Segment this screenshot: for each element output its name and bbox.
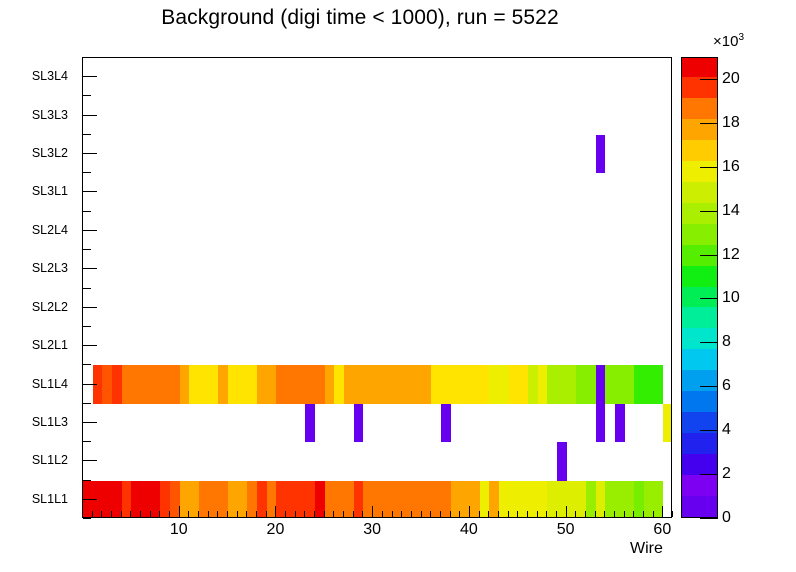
y-axis-tick [83,345,97,346]
x-axis-minor-tick [353,511,354,517]
palette-tick-label-2: 2 [722,465,731,483]
x-axis-major-tick [566,506,567,517]
heatmap-cell [276,365,324,403]
y-axis-tick-label-sl2l2: SL2L2 [32,300,68,314]
y-axis-tick-label-sl3l2: SL3L2 [32,146,68,160]
palette-tick-label-18: 18 [722,114,740,132]
palette-tick-label-10: 10 [722,289,740,307]
heatmap-cell [557,442,567,480]
palette-tick [700,386,718,387]
y-axis-tick-label-sl2l3: SL2L3 [32,261,68,275]
x-axis-major-tick [469,506,470,517]
x-axis-minor-tick [140,511,141,517]
y-axis-tick [83,76,97,77]
y-axis-minor-tick [83,518,91,519]
y-axis-minor-tick [83,326,91,327]
heatmap-cell [102,365,112,403]
color-scale-bar [681,57,718,518]
palette-band [682,454,717,476]
heatmap-cell [180,365,190,403]
x-axis-minor-tick [421,511,422,517]
x-axis-minor-tick [517,511,518,517]
heatmap-cell [431,365,489,403]
heatmap-cell [605,365,634,403]
heatmap-cells [83,58,671,517]
y-axis-minor-tick [83,95,91,96]
heatmap-cell [334,365,344,403]
heatmap-cell [354,365,431,403]
palette-band [682,202,717,224]
y-axis-tick-label-sl2l1: SL2L1 [32,338,68,352]
palette-multiplier: ×103 [713,32,744,50]
palette-tick-label-4: 4 [722,421,731,439]
palette-band [682,286,717,308]
x-axis-tick-label-20: 20 [267,521,285,539]
x-axis-minor-tick [643,511,644,517]
palette-tick [700,518,718,519]
heatmap-cell [451,481,480,518]
heatmap-cell [663,404,672,442]
heatmap-cell [228,481,247,518]
palette-band [682,391,717,413]
palette-band [682,139,717,161]
heatmap-cell [131,481,160,518]
heatmap-cell [547,481,586,518]
x-axis-minor-tick [333,511,334,517]
y-axis-minor-tick [83,403,91,404]
x-axis-minor-tick [459,511,460,517]
x-axis-minor-tick [188,511,189,517]
y-axis-tick-label-sl2l4: SL2L4 [32,223,68,237]
heatmap-cell [596,365,606,403]
y-axis-minor-tick [83,249,91,250]
palette-tick [700,123,718,124]
heatmap-cell [596,135,606,173]
heatmap-cell [509,365,528,403]
heatmap-cell [189,365,218,403]
heatmap-cell [199,481,228,518]
palette-tick [700,474,718,475]
palette-band [682,328,717,350]
palette-tick-label-16: 16 [722,158,740,176]
x-axis-minor-tick [304,511,305,517]
palette-tick [700,298,718,299]
y-axis-minor-tick [83,134,91,135]
heatmap-cell [363,481,450,518]
heatmap-cell [489,365,508,403]
heatmap-cell [538,365,548,403]
heatmap-cell [344,365,354,403]
y-axis-minor-tick [83,480,91,481]
palette-band [682,57,717,77]
x-axis-minor-tick [169,511,170,517]
y-axis-tick-label-sl1l1: SL1L1 [32,492,68,506]
histogram-plot-area[interactable] [82,57,672,518]
heatmap-cell [354,404,364,442]
x-axis-minor-tick [450,511,451,517]
x-axis-minor-tick [624,511,625,517]
x-axis-major-tick [662,506,663,517]
y-axis-minor-tick [83,364,91,365]
heatmap-cell [596,404,606,442]
x-axis-minor-tick [208,511,209,517]
y-axis-tick [83,115,97,116]
heatmap-cell [441,404,451,442]
x-axis-minor-tick [130,511,131,517]
x-axis-minor-tick [595,511,596,517]
x-axis-minor-tick [498,511,499,517]
x-axis-minor-tick [488,511,489,517]
palette-tick-label-6: 6 [722,377,731,395]
page-title: Background (digi time < 1000), run = 552… [0,6,720,30]
palette-band [682,349,717,371]
x-axis-minor-tick [614,511,615,517]
x-axis-minor-tick [266,511,267,517]
heatmap-cell [180,481,199,518]
x-axis-minor-tick [362,511,363,517]
palette-band [682,118,717,140]
x-axis-minor-tick [537,511,538,517]
x-axis-minor-tick [653,511,654,517]
y-axis-minor-tick [83,57,91,58]
x-axis-minor-tick [246,511,247,517]
heatmap-cell [276,481,315,518]
x-axis-minor-tick [295,511,296,517]
y-axis-tick [83,153,97,154]
y-axis-tick-label-sl3l4: SL3L4 [32,69,68,83]
palette-tick [700,79,718,80]
x-axis-tick-label-30: 30 [363,521,381,539]
y-axis-labels: SL3L4SL3L3SL3L2SL3L1SL2L4SL2L3SL2L2SL2L1… [0,57,78,518]
y-axis-minor-tick [83,288,91,289]
palette-tick [700,342,718,343]
x-axis-minor-tick [121,511,122,517]
x-axis-minor-tick [479,511,480,517]
y-axis-minor-tick [83,441,91,442]
y-axis-minor-tick [83,172,91,173]
heatmap-cell [605,481,634,518]
x-axis-minor-tick [343,511,344,517]
palette-band [682,181,717,203]
x-axis-minor-tick [556,511,557,517]
x-axis-minor-tick [111,511,112,517]
palette-tick-label-14: 14 [722,202,740,220]
heatmap-cell [634,365,663,403]
palette-tick-label-20: 20 [722,70,740,88]
palette-band [682,223,717,245]
y-axis-tick [83,307,97,308]
heatmap-cell [122,365,180,403]
y-axis-minor-tick [83,211,91,212]
x-axis-title: Wire [630,540,663,558]
palette-tick-label-8: 8 [722,333,731,351]
y-axis-tick [83,230,97,231]
x-axis-minor-tick [101,511,102,517]
x-axis-minor-tick [633,511,634,517]
x-axis-minor-tick [198,511,199,517]
x-axis-minor-tick [604,511,605,517]
y-axis-tick-label-sl1l2: SL1L2 [32,453,68,467]
x-axis-minor-tick [585,511,586,517]
palette-band [682,97,717,119]
y-axis-tick [83,268,97,269]
x-axis-minor-tick [546,511,547,517]
heatmap-cell [615,404,625,442]
x-axis-minor-tick [159,511,160,517]
heatmap-cell [547,365,576,403]
heatmap-cell [325,481,354,518]
heatmap-cell [644,481,663,518]
heatmap-cell [528,365,538,403]
x-axis-minor-tick [527,511,528,517]
x-axis-minor-tick [256,511,257,517]
x-axis-tick-label-40: 40 [460,521,478,539]
palette-band [682,370,717,392]
heatmap-cell [218,365,228,403]
x-axis-tick-label-50: 50 [557,521,575,539]
x-axis-major-tick [275,506,276,517]
y-axis-tick [83,384,97,385]
palette-tick-label-0: 0 [722,509,731,527]
palette-tick [700,255,718,256]
x-axis-minor-tick [314,511,315,517]
palette-tick [700,211,718,212]
heatmap-cell [112,365,122,403]
y-axis-tick [83,191,97,192]
palette-tick [700,167,718,168]
heatmap-cell [576,365,595,403]
x-axis-minor-tick [217,511,218,517]
x-axis-minor-tick [92,511,93,517]
palette-band [682,433,717,455]
x-axis-minor-tick [285,511,286,517]
palette-band [682,307,717,329]
palette-band [682,475,717,497]
y-axis-tick [83,460,97,461]
x-axis-minor-tick [672,511,673,517]
y-axis-tick [83,422,97,423]
heatmap-cell [305,404,315,442]
x-axis-minor-tick [575,511,576,517]
x-axis-major-tick [372,506,373,517]
x-axis-tick-label-60: 60 [653,521,671,539]
palette-band [682,265,717,287]
palette-band [682,160,717,182]
y-axis-tick [83,499,97,500]
x-axis-minor-tick [227,511,228,517]
x-axis-minor-tick [150,511,151,517]
palette-band [682,495,717,517]
heatmap-cell [325,365,335,403]
x-axis-minor-tick [401,511,402,517]
palette-tick-label-12: 12 [722,246,740,264]
palette-tick [700,430,718,431]
x-axis-major-tick [179,506,180,517]
y-axis-tick-label-sl3l3: SL3L3 [32,108,68,122]
y-axis-tick-label-sl1l3: SL1L3 [32,415,68,429]
x-axis-minor-tick [411,511,412,517]
x-axis-minor-tick [237,511,238,517]
x-axis-minor-tick [382,511,383,517]
x-axis-minor-tick [82,511,83,517]
x-axis-minor-tick [392,511,393,517]
heatmap-cell [228,365,257,403]
y-axis-tick-label-sl1l4: SL1L4 [32,377,68,391]
x-axis-minor-tick [430,511,431,517]
heatmap-cell [499,481,547,518]
heatmap-cell [93,365,103,403]
x-axis-tick-label-10: 10 [170,521,188,539]
x-axis-minor-tick [440,511,441,517]
y-axis-tick-label-sl3l1: SL3L1 [32,184,68,198]
heatmap-cell [257,365,276,403]
x-axis-minor-tick [508,511,509,517]
x-axis-minor-tick [324,511,325,517]
